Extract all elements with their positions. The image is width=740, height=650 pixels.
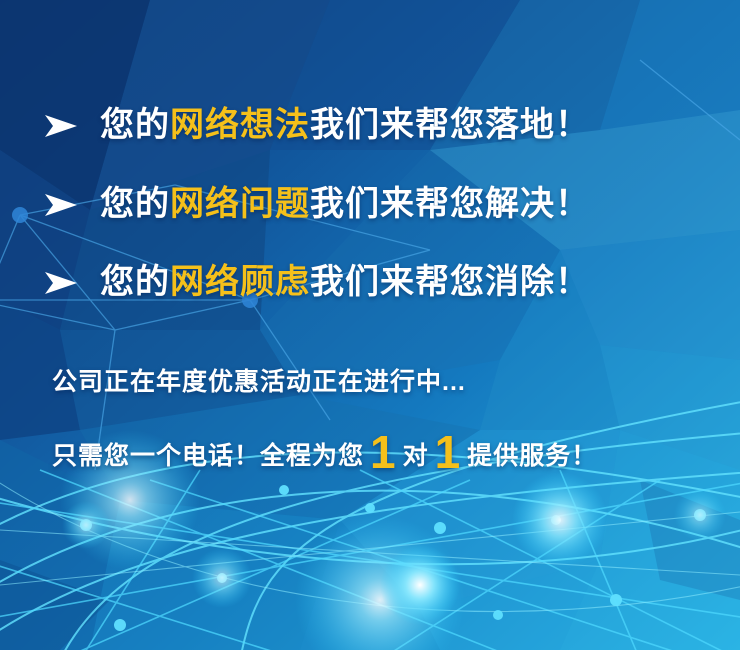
bullet-row-2: 您的网络问题我们来帮您解决！ [44, 187, 590, 223]
headline-1: 您的网络想法我们来帮您落地！ [100, 108, 590, 144]
headline-1-highlight: 网络想法 [170, 106, 310, 144]
arrow-bullet-icon [44, 113, 78, 139]
headline-1-prefix: 您的 [100, 106, 170, 144]
subline-2-middle: 对 [403, 436, 429, 472]
headline-2-highlight: 网络问题 [170, 185, 310, 223]
headline-3: 您的网络顾虑我们来帮您消除！ [100, 265, 590, 301]
bullet-row-1: 您的网络想法我们来帮您落地！ [44, 108, 590, 144]
headline-1-suffix: 我们来帮您落地！ [310, 106, 590, 144]
headline-2: 您的网络问题我们来帮您解决！ [100, 187, 590, 223]
headline-3-suffix: 我们来帮您消除！ [310, 263, 590, 301]
arrow-bullet-icon [44, 192, 78, 218]
banner-content: 您的网络想法我们来帮您落地！ 您的网络问题我们来帮您解决！ 您的网络顾虑我们来帮… [0, 0, 740, 650]
subline-2-part2: 提供服务！ [467, 436, 597, 472]
subline-2-number-1: 1 [364, 432, 403, 473]
headline-2-suffix: 我们来帮您解决！ [310, 185, 590, 223]
subline-1: 公司正在年度优惠活动正在进行中... [52, 362, 466, 398]
headline-3-prefix: 您的 [100, 263, 170, 301]
promo-banner: 您的网络想法我们来帮您落地！ 您的网络问题我们来帮您解决！ 您的网络顾虑我们来帮… [0, 0, 740, 650]
headline-2-prefix: 您的 [100, 185, 170, 223]
subline-2-number-2: 1 [429, 432, 468, 473]
arrow-bullet-icon [44, 270, 78, 296]
bullet-row-3: 您的网络顾虑我们来帮您消除！ [44, 265, 590, 301]
headline-3-highlight: 网络顾虑 [170, 263, 310, 301]
subline-2-part1: 只需您一个电话！全程为您 [52, 436, 364, 472]
subline-2: 只需您一个电话！全程为您 1 对 1 提供服务！ [52, 428, 597, 472]
